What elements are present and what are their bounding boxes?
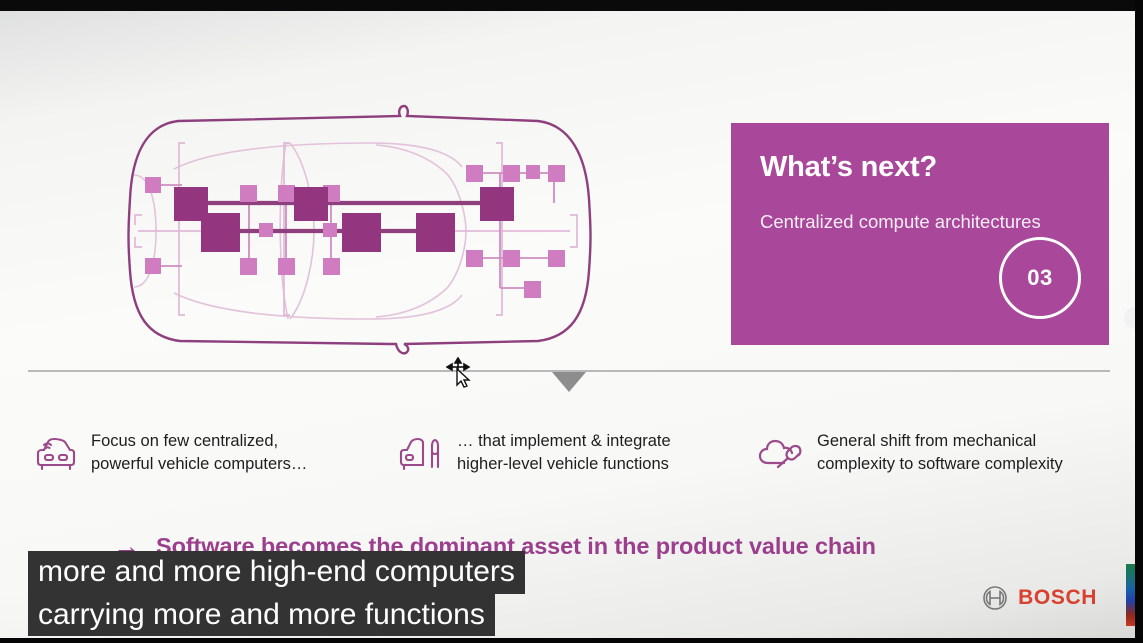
benefit-text: … that implement & integrate higher-leve… (457, 430, 671, 477)
callout-title: What’s next? (760, 151, 937, 184)
caption-line: carrying more and more functions (28, 594, 495, 637)
benefit-text: Focus on few centralized, powerful vehic… (91, 430, 307, 477)
benefit-item: … that implement & integrate higher-leve… (396, 430, 671, 477)
video-player-screen: What’s next? Centralized compute archite… (0, 0, 1143, 643)
bosch-logo: BOSCH (982, 585, 1097, 611)
move-resize-cursor (446, 357, 480, 391)
subtitle-caption: more and more high-end computers carryin… (28, 551, 525, 636)
callout-card: What’s next? Centralized compute archite… (731, 123, 1109, 345)
callout-number-badge: 03 (999, 237, 1081, 319)
presentation-slide: What’s next? Centralized compute archite… (0, 11, 1135, 638)
bosch-armature-icon (982, 585, 1008, 611)
vehicle-architecture-diagram (118, 103, 618, 355)
car-connected-icon (30, 433, 78, 473)
benefit-item: General shift from mechanical complexity… (756, 430, 1063, 477)
benefit-item: Focus on few centralized, powerful vehic… (30, 430, 307, 477)
bosch-wordmark: BOSCH (1018, 586, 1097, 610)
car-wrench-icon (396, 433, 444, 473)
caption-line: more and more high-end computers (28, 551, 525, 594)
player-bottom-letterbox (0, 638, 1143, 643)
player-right-letterbox (1135, 0, 1143, 643)
benefit-text: General shift from mechanical complexity… (817, 430, 1063, 477)
divider-caret-icon (552, 372, 586, 392)
cloud-wrench-icon (756, 433, 804, 473)
callout-number-text: 03 (1027, 265, 1052, 291)
color-calibration-strip (1126, 564, 1135, 626)
player-top-letterbox (0, 0, 1143, 11)
callout-subtitle: Centralized compute architectures (760, 207, 1041, 237)
